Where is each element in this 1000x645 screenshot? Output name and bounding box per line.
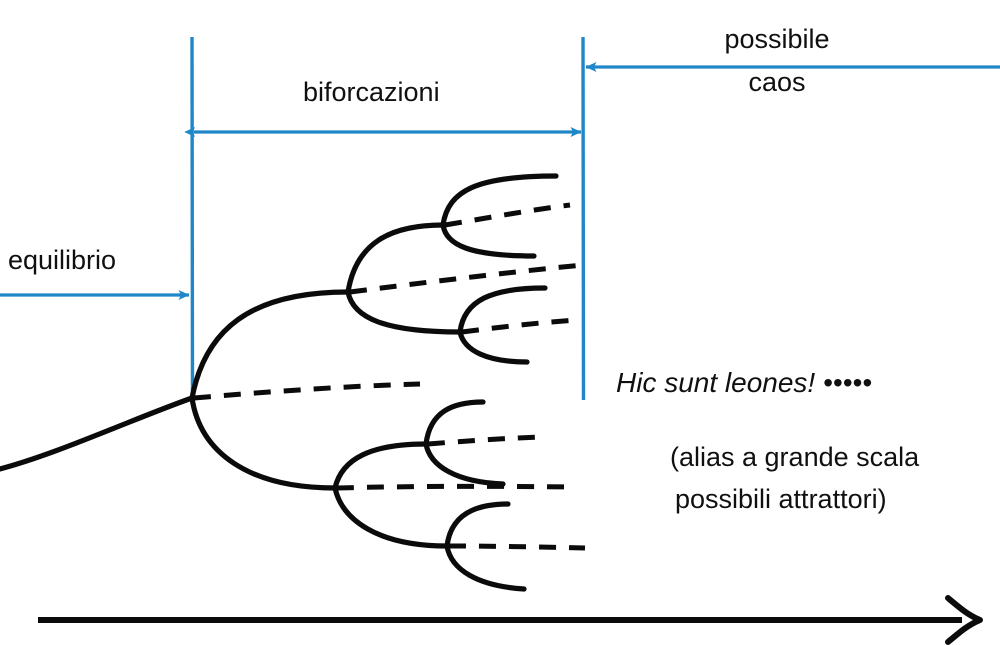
parameter-axis-group (38, 598, 980, 642)
label-alias-line1: (alias a grande scala (670, 442, 919, 472)
bifurcation-diagram-figure: equilibrio biforcazioni possibile caos H… (0, 0, 1000, 645)
level3-d-unstable-branch (449, 546, 585, 548)
level1-upper-branch (192, 292, 348, 398)
diagram-canvas (0, 0, 1000, 645)
label-equilibrio: equilibrio (8, 245, 116, 275)
level3-a-upper-branch (443, 176, 556, 225)
level2-upper-unstable-branch (350, 265, 583, 292)
level3-a-lower-branch (443, 225, 534, 256)
level3-d-upper-branch (447, 504, 508, 546)
level1-unstable-branch (194, 384, 420, 398)
label-caos: caos (707, 67, 847, 97)
level3-c-lower-branch (426, 444, 503, 484)
level2-lower-lower-branch (335, 488, 447, 546)
level2-lower-upper-branch (335, 444, 426, 488)
label-possibile: possibile (707, 24, 847, 54)
level2-upper-upper-branch (348, 225, 443, 292)
level3-c-unstable-branch (428, 437, 543, 444)
first-bifurcation-divider (192, 37, 193, 400)
trunk-branch (0, 398, 192, 470)
label-biforcazioni: biforcazioni (303, 77, 440, 107)
chaos-onset-divider (583, 37, 584, 400)
level3-d-lower-branch (447, 546, 524, 589)
level3-c-upper-branch (426, 402, 483, 444)
level3-a-unstable-branch (445, 205, 570, 225)
level1-lower-branch (192, 398, 335, 488)
level2-upper-lower-branch (348, 292, 460, 332)
level3-b-unstable-branch (462, 320, 578, 332)
label-alias-line2: possibili attrattori) (675, 484, 887, 514)
level3-b-lower-branch (460, 332, 527, 362)
label-hic-sunt-leones: Hic sunt leones! ••••• (616, 367, 872, 398)
stable-branch-group (0, 176, 556, 589)
level2-lower-unstable-branch (337, 486, 570, 488)
